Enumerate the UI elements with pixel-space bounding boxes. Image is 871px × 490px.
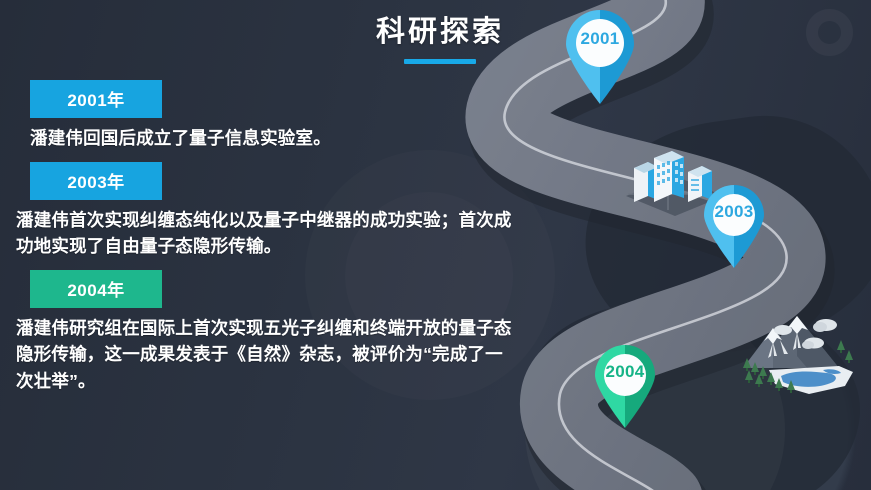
map-pin-label-2003: 2003 bbox=[700, 202, 768, 222]
timeline-entry: 2001年 潘建伟回国后成立了量子信息实验室。 bbox=[0, 80, 540, 152]
map-pin-label-2004: 2004 bbox=[591, 362, 659, 382]
year-badge-2001[interactable]: 2001年 bbox=[30, 80, 162, 118]
map-pin-2001[interactable]: 2001 bbox=[561, 9, 639, 105]
map-pin-2003[interactable]: 2003 bbox=[700, 185, 768, 269]
timeline-entry: 2004年 潘建伟研究组在国际上首次实现五光子纠缠和终端开放的量子态隐形传输，这… bbox=[0, 270, 540, 395]
map-pin-icon bbox=[700, 185, 768, 269]
entry-text-2003: 潘建伟首次实现纠缠态纯化以及量子中继器的成功实验；首次成功地实现了自由量子态隐形… bbox=[16, 207, 516, 260]
timeline-entry: 2003年 潘建伟首次实现纠缠态纯化以及量子中继器的成功实验；首次成功地实现了自… bbox=[0, 162, 540, 260]
map-pin-icon bbox=[591, 345, 659, 429]
title-underline bbox=[404, 59, 476, 64]
mountain-lake-illustration bbox=[735, 310, 860, 405]
timeline-entry-list: 2001年 潘建伟回国后成立了量子信息实验室。 2003年 潘建伟首次实现纠缠态… bbox=[0, 80, 540, 405]
entry-text-2001: 潘建伟回国后成立了量子信息实验室。 bbox=[30, 125, 530, 152]
year-badge-2004[interactable]: 2004年 bbox=[30, 270, 162, 308]
slide-canvas: 科研探索 2001年 潘建伟回国后成立了量子信息实验室。 2003年 潘建伟首次… bbox=[0, 0, 871, 490]
map-pin-icon bbox=[561, 9, 639, 105]
map-pin-label-2001: 2001 bbox=[561, 29, 639, 49]
page-title: 科研探索 bbox=[300, 14, 580, 50]
map-pin-2004[interactable]: 2004 bbox=[591, 345, 659, 429]
page-title-block: 科研探索 bbox=[300, 14, 580, 64]
year-badge-2003[interactable]: 2003年 bbox=[30, 162, 162, 200]
entry-text-2004: 潘建伟研究组在国际上首次实现五光子纠缠和终端开放的量子态隐形传输，这一成果发表于… bbox=[16, 315, 516, 395]
